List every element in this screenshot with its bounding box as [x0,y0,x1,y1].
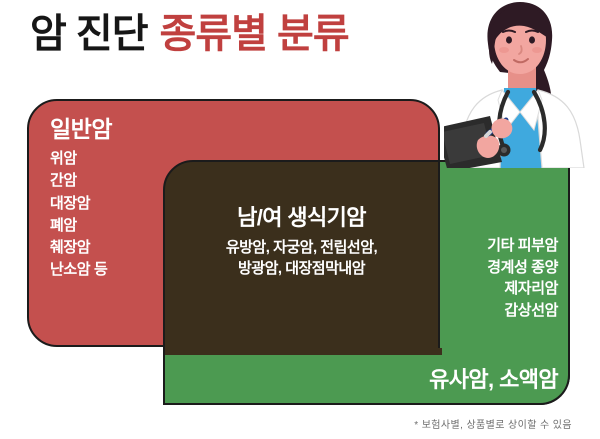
list-item: 갑상선암 [504,301,558,321]
similar-cancer-heading: 유사암, 소액암 [300,362,558,394]
page-title: 암 진단 종류별 분류 [30,14,349,54]
list-item: 간암 [50,172,107,190]
panel-seam-mask [165,348,442,355]
list-item: 경계성 종양 [487,258,558,278]
list-item: 제자리암 [504,279,558,299]
list-item: 위암 [50,150,107,168]
infographic-canvas: 암 진단 종류별 분류 일반암 위암 간암 대장암 폐암 췌장암 난소암 등 남… [0,0,600,439]
reproductive-cancer-heading: 남/여 생식기암 [163,200,440,232]
list-item: 유방암, 자궁암, 전립선암, [163,237,440,258]
title-red-part: 종류별 분류 [160,14,349,54]
list-item: 췌장암 [50,239,107,257]
footnote-text: * 보험사별, 상품별로 상이할 수 있음 [414,416,572,431]
list-item: 방광암, 대장점막내암 [163,258,440,279]
general-cancer-list: 위암 간암 대장암 폐암 췌장암 난소암 등 [50,150,107,280]
list-item: 대장암 [50,195,107,213]
list-item: 폐암 [50,217,107,235]
list-item: 난소암 등 [50,261,107,279]
list-item: 기타 피부암 [487,236,558,256]
similar-cancer-list: 기타 피부암 경계성 종양 제자리암 갑상선암 [440,236,558,320]
reproductive-cancer-list: 유방암, 자궁암, 전립선암, 방광암, 대장점막내암 [163,237,440,280]
title-black-part: 암 진단 [30,14,148,54]
female-doctor-illustration [444,0,590,168]
general-cancer-heading: 일반암 [50,110,112,144]
